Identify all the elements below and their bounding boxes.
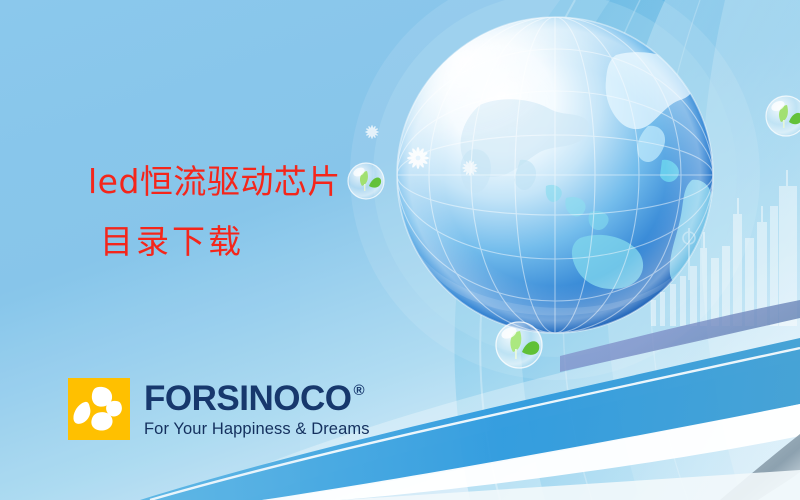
logo-wordmark-text: FORSINOCO	[144, 381, 351, 416]
bubble-bottom	[496, 322, 542, 368]
globe	[377, 14, 723, 333]
company-logo: FORSINOCO ® For Your Happiness & Dreams	[68, 378, 370, 440]
globe-continents	[460, 43, 722, 289]
wave-field	[454, 0, 800, 500]
logo-wordmark: FORSINOCO ®	[144, 381, 370, 416]
flower-petals-icon	[68, 378, 130, 440]
registered-trademark-icon: ®	[353, 383, 364, 398]
globe-mid-glow	[373, 0, 737, 357]
logo-text-block: FORSINOCO ® For Your Happiness & Dreams	[144, 378, 370, 439]
globe-outer-glow	[350, 0, 760, 380]
sparkle-small-right	[462, 160, 477, 175]
bubble-right	[766, 96, 800, 136]
bubble-left	[348, 163, 384, 199]
slide-headline: led恒流驱动芯片 目录下载	[88, 160, 341, 263]
globe-highlight	[377, 14, 617, 210]
forsinoco-flower-icon	[68, 378, 130, 440]
city-skyline-icon	[651, 170, 797, 326]
logo-tagline: For Your Happiness & Dreams	[144, 420, 370, 439]
presentation-slide: led恒流驱动芯片 目录下载 FORSINOCO	[0, 0, 800, 500]
headline-line-2: 目录下载	[100, 220, 341, 264]
sparkle-large	[407, 147, 429, 169]
headline-line-1: led恒流驱动芯片	[88, 160, 341, 204]
globe-grid	[397, 17, 713, 333]
sparkle-small-upper	[365, 125, 379, 139]
